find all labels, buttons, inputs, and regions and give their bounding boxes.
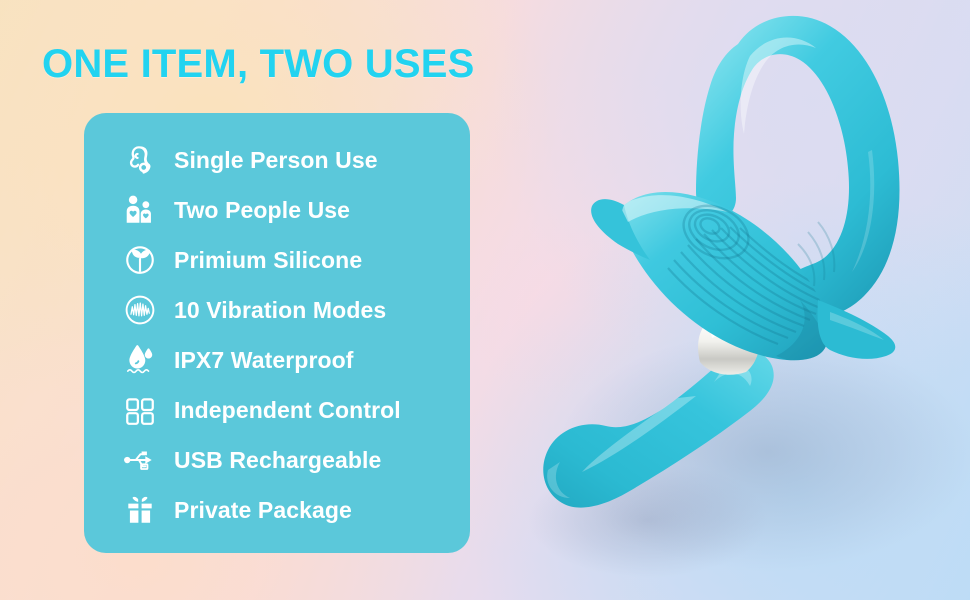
feature-label: IPX7 Waterproof bbox=[174, 347, 354, 374]
feature-label: Single Person Use bbox=[174, 147, 378, 174]
usb-icon bbox=[120, 441, 160, 479]
feature-item-primium-silicone: Primium Silicone bbox=[84, 235, 470, 285]
silicone-leaf-circle-icon bbox=[120, 241, 160, 279]
feature-item-independent-control: Independent Control bbox=[84, 385, 470, 435]
feature-item-two-people-use: Two People Use bbox=[84, 185, 470, 235]
page-title: ONE ITEM, TWO USES bbox=[42, 42, 475, 87]
two-people-hearts-icon bbox=[120, 191, 160, 229]
feature-item-usb-rechargeable: USB Rechargeable bbox=[84, 435, 470, 485]
feature-label: Two People Use bbox=[174, 197, 350, 224]
woman-long-hair-icon bbox=[120, 141, 160, 179]
feature-item-vibration-modes: 10 Vibration Modes bbox=[84, 285, 470, 335]
four-squares-grid-icon bbox=[120, 391, 160, 429]
feature-item-ipx7-waterproof: IPX7 Waterproof bbox=[84, 335, 470, 385]
gift-box-icon bbox=[120, 491, 160, 529]
feature-label: Independent Control bbox=[174, 397, 401, 424]
vibration-wave-circle-icon bbox=[120, 291, 160, 329]
feature-list-panel: Single Person Use Two People Use Pri bbox=[84, 113, 470, 553]
product-feature-banner: ONE ITEM, TWO USES Single Person Use bbox=[0, 0, 970, 600]
feature-label: Primium Silicone bbox=[174, 247, 362, 274]
water-droplet-waves-icon bbox=[120, 341, 160, 379]
feature-label: 10 Vibration Modes bbox=[174, 297, 386, 324]
feature-label: Private Package bbox=[174, 497, 352, 524]
central-ribbed-body bbox=[622, 192, 829, 360]
product-image bbox=[500, 0, 970, 600]
feature-item-single-person-use: Single Person Use bbox=[84, 135, 470, 185]
feature-label: USB Rechargeable bbox=[174, 447, 381, 474]
feature-item-private-package: Private Package bbox=[84, 485, 470, 535]
